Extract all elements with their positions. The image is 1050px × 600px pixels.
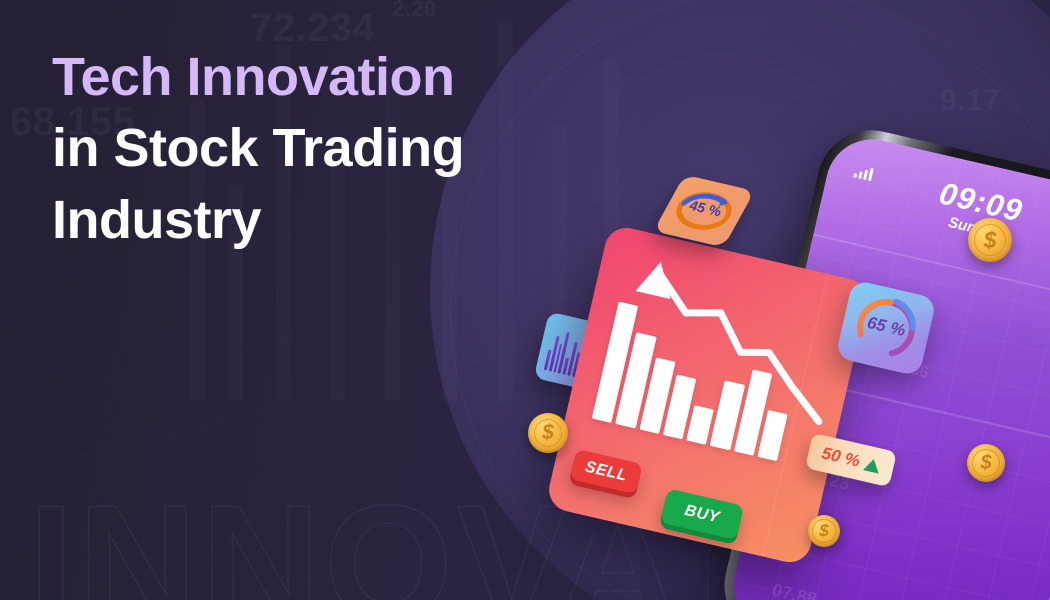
page-title: Tech Innovation in Stock Trading Industr…	[52, 42, 642, 256]
trend-up-triangle-icon	[863, 457, 882, 473]
promo-banner: INNOVATION 72.23468.1552.209.171.86 Tech…	[0, 0, 1050, 600]
sell-button[interactable]: SELL	[570, 449, 643, 495]
bar	[686, 405, 714, 445]
coin-bottom-card: $	[808, 515, 840, 547]
headline-line-2: in Stock Trading	[52, 113, 642, 184]
background-number: 9.17	[940, 84, 1000, 118]
dollar-sign-icon: $	[819, 521, 828, 541]
badge-50-label: 50 %	[820, 444, 862, 472]
coin-bottom-right: $	[967, 444, 1005, 482]
background-number: 2.20	[392, 0, 437, 22]
headline-line-3: Industry	[52, 185, 642, 256]
headline-line-1: Tech Innovation	[52, 42, 642, 113]
dollar-sign-icon: $	[984, 227, 997, 254]
dollar-sign-icon: $	[542, 421, 554, 445]
buy-button[interactable]: BUY	[660, 488, 744, 540]
dollar-sign-icon: $	[980, 452, 991, 475]
coin-top-right: $	[968, 218, 1012, 262]
coin-mid-left: $	[528, 413, 568, 453]
